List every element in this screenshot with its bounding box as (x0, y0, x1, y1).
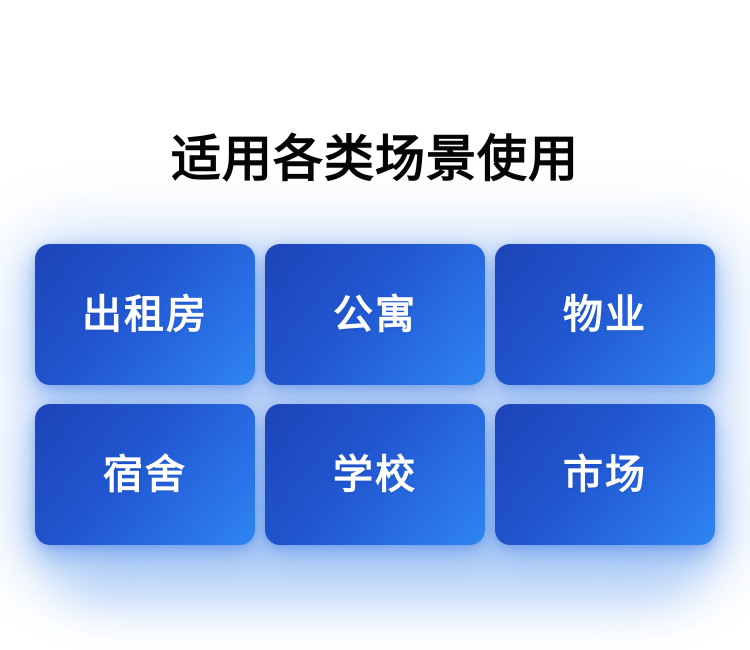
scenario-card-label: 公寓 (333, 292, 417, 338)
scenario-card-dormitory[interactable]: 宿舍 (35, 404, 255, 545)
glow-layer-bottom (60, 540, 690, 592)
scenario-showcase-page: 适用各类场景使用 出租房 公寓 物业 宿舍 学校 市场 (0, 0, 750, 650)
scenario-card-property[interactable]: 物业 (495, 244, 715, 385)
scenario-card-apartment[interactable]: 公寓 (265, 244, 485, 385)
scenario-card-label: 宿舍 (103, 452, 187, 498)
scenario-card-rental-house[interactable]: 出租房 (35, 244, 255, 385)
scenario-card-grid: 出租房 公寓 物业 宿舍 学校 市场 (35, 244, 715, 545)
scenario-card-label: 市场 (563, 452, 647, 498)
scenario-card-market[interactable]: 市场 (495, 404, 715, 545)
scenario-card-label: 学校 (333, 452, 417, 498)
scenario-card-label: 物业 (563, 292, 647, 338)
scenario-card-school[interactable]: 学校 (265, 404, 485, 545)
page-title: 适用各类场景使用 (0, 126, 750, 192)
scenario-card-label: 出租房 (82, 292, 208, 338)
